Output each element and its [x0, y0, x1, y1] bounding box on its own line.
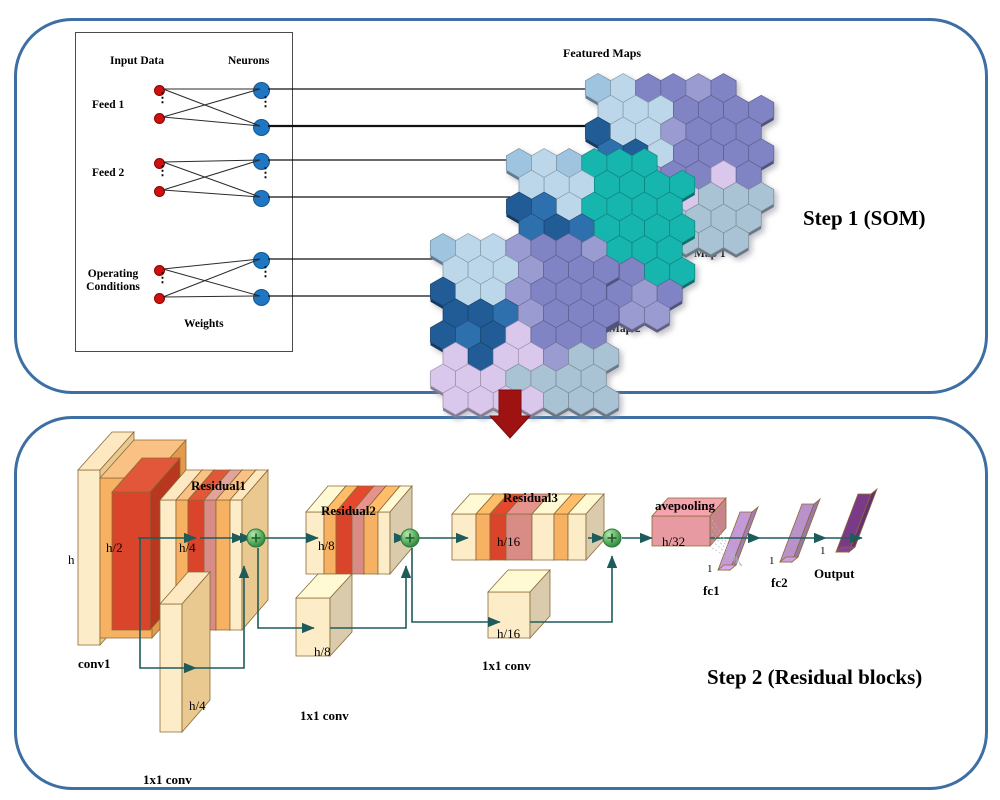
input-dots: ⋮ — [156, 169, 169, 173]
residual1-label: Residual1 — [191, 478, 246, 494]
input-node — [154, 113, 165, 124]
operating-conditions-label: Operating Conditions — [82, 268, 144, 294]
residual3-label: Residual3 — [503, 490, 558, 506]
neuron-dots: ⋮ — [259, 171, 272, 175]
input-data-label: Input Data — [110, 55, 164, 67]
output-unit-label: 1 — [820, 545, 826, 557]
fc2-label: fc2 — [771, 575, 788, 591]
feed2-label: Feed 2 — [92, 167, 124, 179]
skip1-h4-label: h/4 — [189, 698, 206, 714]
step2-label: Step 2 (Residual blocks) — [707, 665, 922, 690]
conv1-h2-label: h/2 — [106, 540, 123, 556]
conv1-h-label: h — [68, 552, 75, 568]
opcond-line1: Operating — [88, 268, 138, 280]
input-dots: ⋮ — [156, 96, 169, 100]
skip3-h16-label: h/16 — [497, 626, 520, 642]
avepooling-label: avepooling — [655, 498, 715, 514]
neurons-label: Neurons — [228, 55, 269, 67]
step1-label: Step 1 (SOM) — [803, 206, 926, 231]
residual3-h16-label: h/16 — [497, 534, 520, 550]
skip1-name: 1x1 conv — [143, 772, 192, 788]
map2-label: Map 2 — [609, 323, 641, 335]
conv1-label: conv1 — [78, 656, 111, 672]
fc2-unit-label: 1 — [769, 555, 775, 567]
residual2-label: Residual2 — [321, 503, 376, 519]
neuron-node — [253, 289, 270, 306]
residual2-h8-label: h/8 — [318, 538, 335, 554]
neuron-dots: ⋮ — [259, 100, 272, 104]
weights-label: Weights — [184, 318, 224, 330]
skip2-name: 1x1 conv — [300, 708, 349, 724]
fc1-unit-label: 1 — [707, 563, 713, 575]
residual1-h4-label: h/4 — [179, 540, 196, 556]
map3-label: Map 3 — [452, 374, 484, 386]
panel-step2-residual — [14, 416, 988, 790]
neuron-node — [253, 119, 270, 136]
map1-label: Map 1 — [694, 248, 726, 260]
feed1-label: Feed 1 — [92, 99, 124, 111]
skip3-name: 1x1 conv — [482, 658, 531, 674]
avepooling-h32-label: h/32 — [662, 534, 685, 550]
fc1-label: fc1 — [703, 583, 720, 599]
input-node — [154, 186, 165, 197]
neuron-dots: ⋮ — [259, 270, 272, 274]
neuron-node — [253, 190, 270, 207]
skip2-h8-label: h/8 — [314, 644, 331, 660]
output-label: Output — [814, 566, 854, 582]
featured-maps-title: Featured Maps — [563, 46, 641, 61]
opcond-line2: Conditions — [86, 281, 140, 293]
input-node — [154, 293, 165, 304]
input-dots: ⋮ — [156, 276, 169, 280]
